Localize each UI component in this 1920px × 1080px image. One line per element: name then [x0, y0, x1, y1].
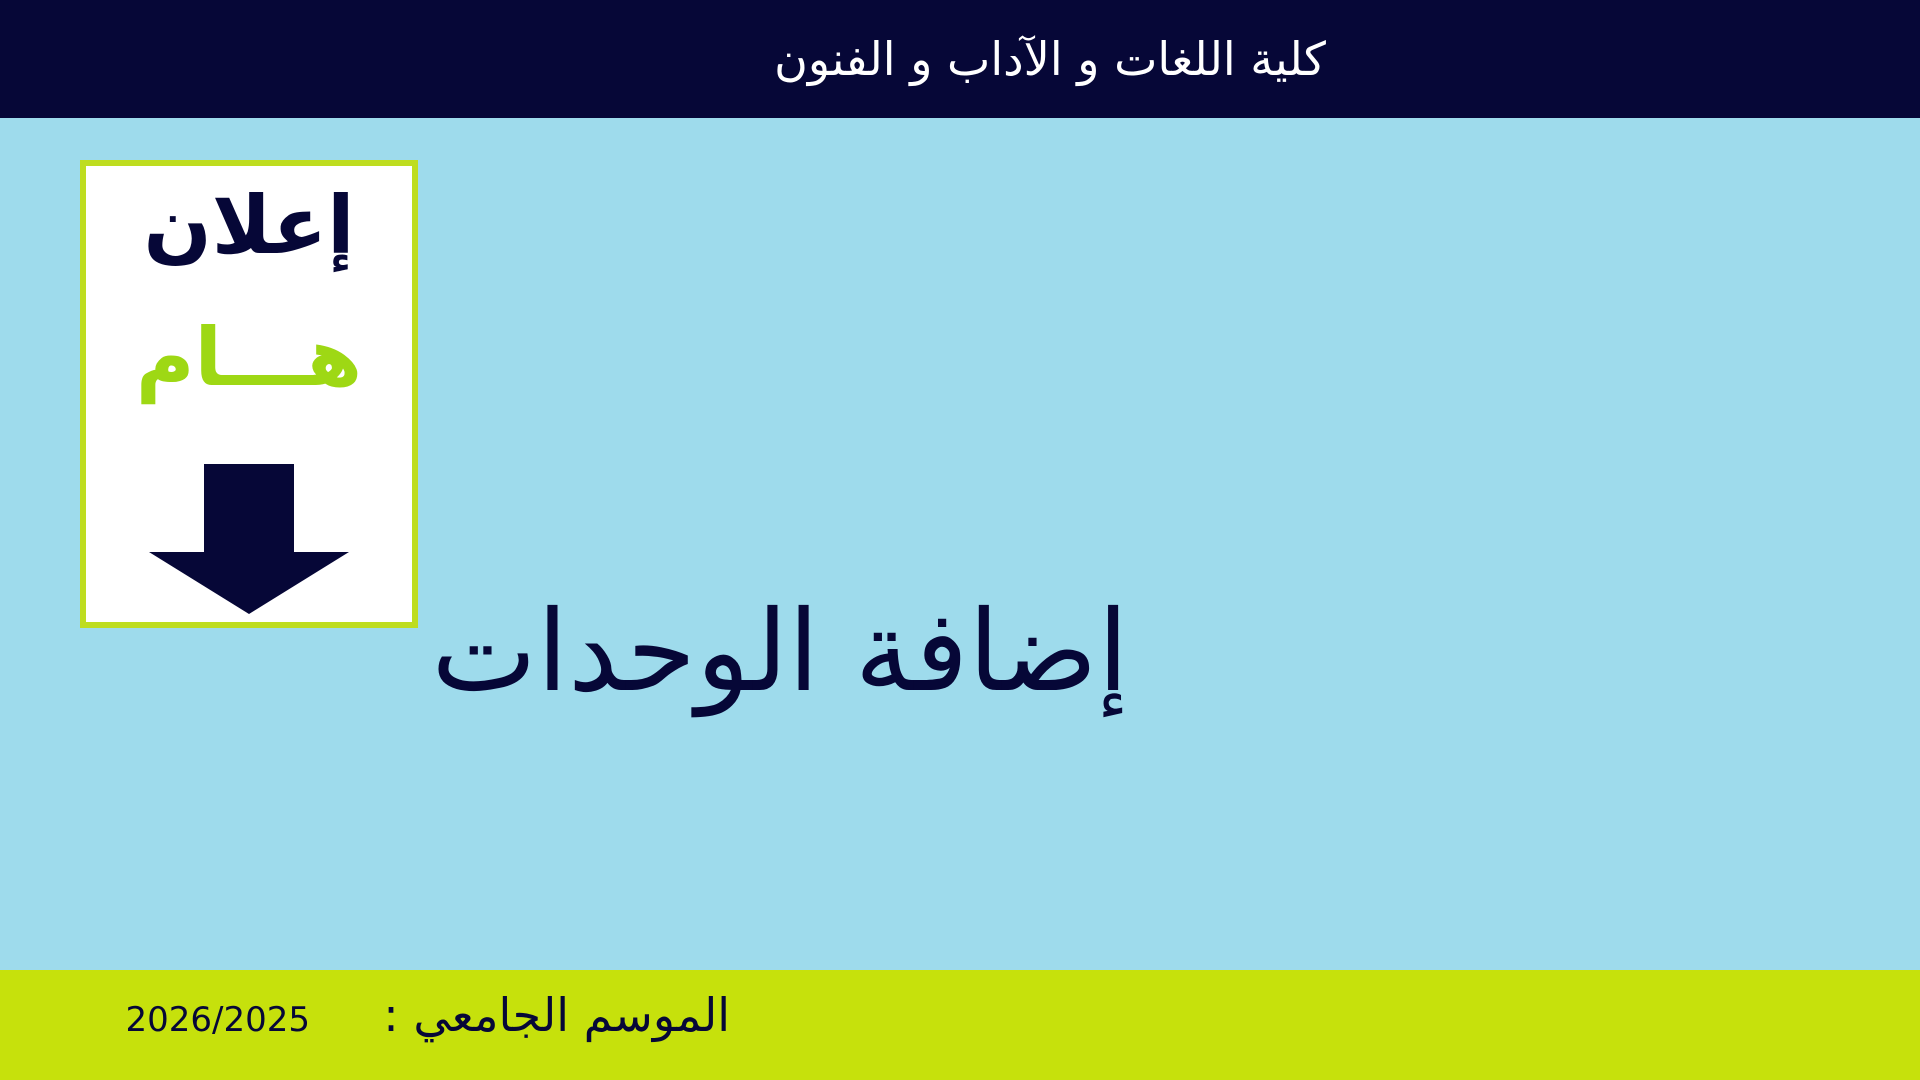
- arrow-down-icon: [144, 464, 354, 614]
- announcement-card: إعلان هـــام: [80, 160, 418, 628]
- announcement-card-inner: إعلان هـــام: [86, 166, 412, 622]
- academic-year-label: الموسم الجامعي :: [383, 988, 730, 1042]
- announcement-word-haam: هـــام: [114, 316, 384, 400]
- announcement-slide: كلية اللغات و الآداب و الفنون إعلان هـــ…: [0, 0, 1920, 1080]
- academic-year-value: 2026/2025: [125, 1000, 310, 1040]
- content-area: إعلان هـــام إضافة الوحدات: [0, 118, 1920, 970]
- announcement-word-ilan: إعلان: [114, 184, 384, 268]
- faculty-name-title: كلية اللغات و الآداب و الفنون: [0, 0, 1920, 118]
- footer-content: الموسم الجامعي : 2026/2025: [0, 970, 1920, 1080]
